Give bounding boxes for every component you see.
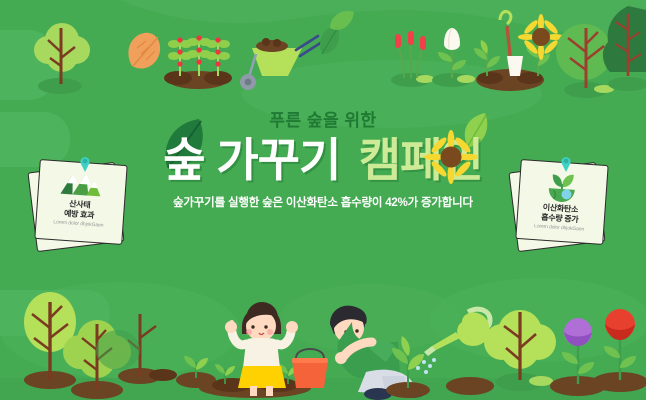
round-tree-icon	[484, 310, 556, 391]
main-title: 숲 가꾸기 캠페인	[163, 137, 482, 183]
berry-crops-icon	[164, 35, 232, 89]
red-flowers-icon	[391, 31, 434, 87]
floating-leaf-icon	[320, 26, 339, 54]
bottom-scene	[0, 276, 646, 400]
watering-can-icon	[416, 309, 494, 395]
wheelbarrow-icon	[240, 36, 322, 90]
card-title-line2: 예방 효과	[64, 209, 95, 220]
top-decoration-row	[0, 0, 646, 115]
card-subtitle: Lorem dolor dhjokGaen	[534, 224, 584, 232]
bush-tree-icon	[34, 23, 90, 94]
title-part-1: 숲 가꾸기	[163, 137, 340, 183]
card-title-line2: 흡수량 증가	[541, 213, 579, 225]
eyebrow-text: 푸른 숲을 위한	[0, 112, 646, 129]
white-tulip-icon	[432, 28, 475, 87]
pine-tree-icon	[603, 6, 646, 91]
orange-bucket-icon	[292, 349, 328, 388]
floating-leaf-icon-2	[330, 11, 354, 30]
sub-description: 숲가꾸기를 실행한 숲은 이산화탄소 흡수량이 42%가 증가합니다	[0, 198, 646, 210]
campaign-banner: 푸른 숲을 위한 숲 가꾸기 캠페인	[0, 0, 646, 400]
title-sunflower-icon	[427, 133, 475, 181]
card-subtitle: Lorem dolor dhjokGaen	[53, 220, 103, 228]
red-tulip-icon	[592, 309, 646, 392]
headline-block: 푸른 숲을 위한 숲 가꾸기 캠페인	[0, 112, 646, 210]
shovel-in-soil-icon	[474, 11, 564, 91]
autumn-leaf-icon	[128, 33, 160, 69]
